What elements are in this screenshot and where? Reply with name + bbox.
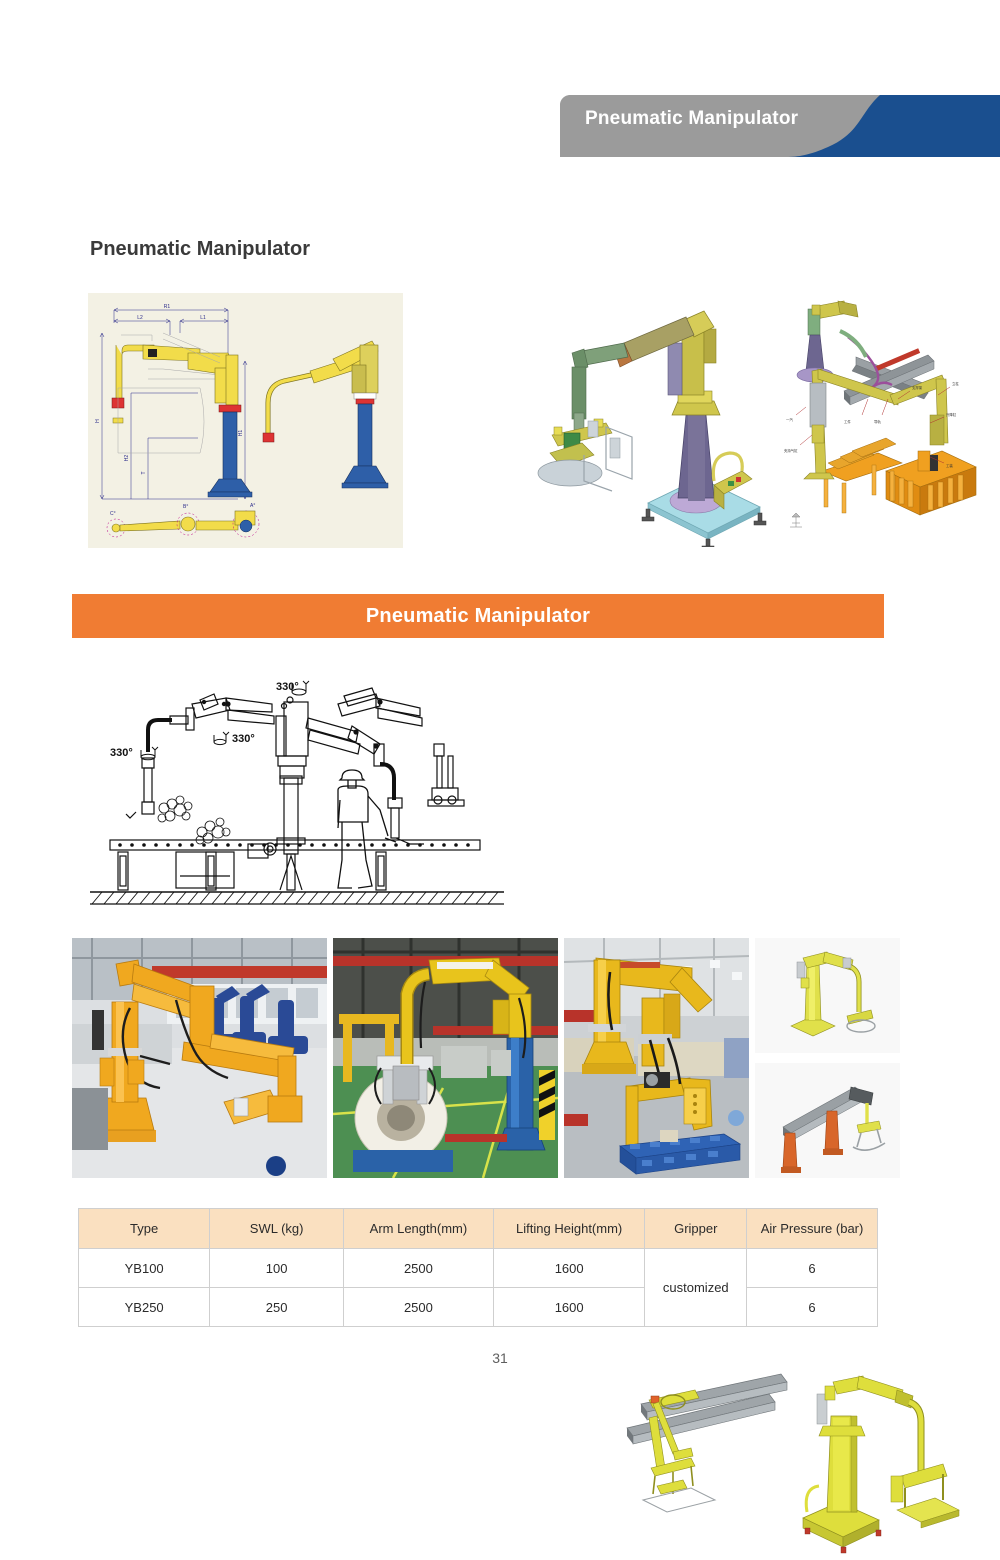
dim-label-t: T [141, 471, 147, 474]
figure-row-top: R1 L2 L1 H H2 T H1 [88, 293, 912, 548]
pneumatic-manipulator-dimension-drawing: R1 L2 L1 H H2 T H1 [88, 293, 403, 548]
th-swl: SWL (kg) [210, 1209, 344, 1249]
th-gripper: Gripper [645, 1209, 747, 1249]
figure-row-middle: 330° 330° 330° [80, 660, 900, 915]
cell-type: YB250 [79, 1288, 210, 1327]
leg-left [783, 1133, 797, 1167]
manipulator-workcell-line-drawing: 330° 330° 330° [80, 660, 510, 910]
angle-label-c: C° [110, 511, 116, 517]
th-air-pressure: Air Pressure (bar) [747, 1209, 878, 1249]
callout-3: 工件 [844, 419, 851, 424]
tool-cylinder [810, 383, 826, 427]
table-header-row: Type SWL (kg) Arm Length(mm) Lifting Hei… [79, 1209, 878, 1249]
section-banner-title: Pneumatic Manipulator [72, 605, 884, 628]
table-row: YB100 100 2500 1600 customized 6 [79, 1249, 878, 1288]
yellow-manipulator-renders [595, 1360, 970, 1560]
manipulator-application-3d: 一汽 夹持气缸 工件 导轨 支撑架 立柱 升降缸 工装 [778, 295, 1000, 547]
callout-4: 导轨 [874, 419, 881, 424]
angle-label-a: A° [250, 503, 255, 509]
th-lift-height: Lifting Height(mm) [493, 1209, 645, 1249]
photo-yellow-manipulator-pallet [564, 938, 749, 1178]
page-number: 31 [0, 1350, 1000, 1366]
specification-table: Type SWL (kg) Arm Length(mm) Lifting Hei… [78, 1208, 878, 1327]
cell-lifting-height: 1600 [493, 1288, 645, 1327]
dim-label-h: H [95, 419, 101, 423]
callout-8: 工装 [946, 463, 953, 468]
callout-6: 立柱 [952, 381, 959, 386]
cell-swl: 250 [210, 1288, 344, 1327]
th-type: Type [79, 1209, 210, 1249]
photo-orange-manipulator-robot-cell [72, 938, 327, 1178]
vacuum-pad [538, 460, 602, 486]
rotation-label-mid: 330° [232, 733, 255, 745]
leg-right [825, 1111, 839, 1149]
cell-gripper: customized [645, 1249, 747, 1327]
cell-lifting-height: 1600 [493, 1249, 645, 1288]
header-title: Pneumatic Manipulator [585, 108, 798, 130]
photo-small-render-gantry-arm [755, 1063, 900, 1178]
angle-label-b: B° [183, 504, 188, 510]
cell-arm-length: 2500 [344, 1249, 494, 1288]
cell-air-pressure: 6 [747, 1249, 878, 1288]
rotation-label-left: 330° [110, 747, 133, 759]
dim-label-h1: H1 [238, 430, 244, 437]
cell-type: YB100 [79, 1249, 210, 1288]
manipulator-vacuum-gripper-3d [528, 295, 778, 547]
dim-label-l1: L1 [200, 315, 206, 321]
th-arm-length: Arm Length(mm) [344, 1209, 494, 1249]
table-row: YB250 250 2500 1600 6 [79, 1288, 878, 1327]
cell-swl: 100 [210, 1249, 344, 1288]
photo-gallery [72, 938, 900, 1178]
dim-label-l2: L2 [137, 315, 143, 321]
worker-head [266, 1156, 286, 1176]
callout-2: 夹持气缸 [784, 448, 798, 453]
callout-5: 支撑架 [912, 385, 923, 390]
dim-label-r1: R1 [164, 304, 171, 310]
cell-air-pressure: 6 [747, 1288, 878, 1327]
dim-label-h2: H2 [124, 455, 130, 462]
cell-arm-length: 2500 [344, 1288, 494, 1327]
page-title: Pneumatic Manipulator [90, 238, 310, 261]
photo-yellow-manipulator-coil-handling [333, 938, 558, 1178]
photo-small-render-column-arm [755, 938, 900, 1053]
callout-1: 一汽 [786, 417, 793, 422]
callout-7: 升降缸 [946, 412, 957, 417]
rotation-label-top: 330° [276, 681, 299, 693]
section-banner-orange: Pneumatic Manipulator [72, 594, 884, 638]
